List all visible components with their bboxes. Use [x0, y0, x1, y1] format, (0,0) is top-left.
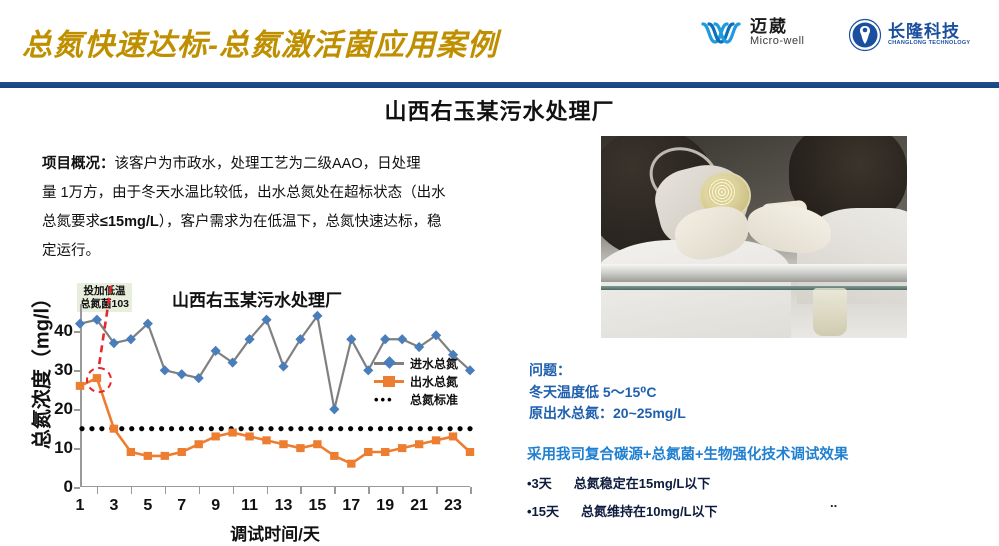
project-overview: 项目概况：该客户为市政水，处理工艺为二级AAO，日处理 量 1万方，由于冬天水温…: [42, 150, 542, 266]
chart-x-axis-label: 调试时间/天: [80, 520, 470, 545]
dosing-arrow-line: [99, 286, 111, 366]
chart-x-tick-label: 23: [444, 497, 462, 515]
chart-x-tick-mark: [470, 487, 472, 494]
solution-bullet-1-text: 总氮稳定在15mg/L以下: [574, 476, 711, 491]
page-title: 山西右玉某污水处理厂: [0, 94, 999, 126]
chart-x-tick-mark: [131, 487, 133, 494]
chart-y-axis-label: 总氮浓度（mg/l）: [26, 279, 55, 459]
chart-x-tick-label: 15: [308, 497, 326, 515]
solution-bullet-2-text: 总氮维持在10mg/L以下: [581, 504, 718, 519]
overview-line3-post: ），客户需求为在低温下，总氮快速达标，稳: [159, 214, 442, 230]
photo-cabinet-frame: [601, 264, 907, 282]
problem-line-effluent-tn: 原出水总氮：20~25mg/L: [529, 403, 686, 425]
chart-x-tick-label: 5: [143, 497, 152, 515]
legend-item-effluent: 出水总氮: [374, 372, 458, 390]
photo-glass-edge: [601, 286, 907, 290]
solution-trailing-dots: ..: [830, 495, 837, 510]
chart-x-tick-mark: [368, 487, 370, 494]
chart-x-tick-mark: [402, 487, 404, 494]
chart-x-tick-mark: [300, 487, 302, 494]
changlong-seal-icon: [848, 18, 882, 52]
chart-x-tick-mark: [97, 487, 99, 494]
problem-heading: 问题：: [529, 360, 686, 382]
overview-line1: 该客户为市政水，处理工艺为二级AAO，日处理: [115, 156, 421, 172]
lab-photo: [601, 136, 907, 338]
legend-item-influent: 进水总氮: [374, 354, 458, 372]
legend-marker-influent-icon: [374, 362, 404, 365]
legend-item-standard: ••• 总氮标准: [374, 390, 458, 408]
chart-x-tick-mark: [199, 487, 201, 494]
chart-x-tick-mark: [334, 487, 336, 494]
logo-changlong-cn: 长隆科技: [888, 23, 970, 41]
chart-x-tick-label: 21: [410, 497, 428, 515]
overview-label: 项目概况：: [42, 156, 115, 172]
slide-title: 总氮快速达标-总氮激活菌应用案例: [22, 20, 498, 64]
overview-spec-value: ≤15mg/L: [100, 214, 159, 230]
chart-x-tick-label: 3: [109, 497, 118, 515]
logo-micro-well-cn: 迈葳: [750, 18, 805, 36]
legend-label-influent: 进水总氮: [410, 355, 458, 372]
solution-heading: 采用我司复合碳源+总氮菌+生物强化技术调试效果: [527, 443, 987, 464]
logo-changlong: 长隆科技 CHANGLONG TECHNOLOGY: [848, 18, 970, 52]
overview-line3-pre: 总氮要求: [42, 214, 100, 230]
chart-x-tick-label: 17: [342, 497, 360, 515]
chart-y-tick-label: 40: [54, 321, 73, 341]
legend-marker-standard-icon: •••: [374, 393, 404, 406]
logo-micro-well: 迈葳 Micro-well: [700, 18, 805, 48]
chart-x-tick-label: 9: [211, 497, 220, 515]
logo-changlong-en: CHANGLONG TECHNOLOGY: [888, 41, 970, 47]
slide-header: 总氮快速达标-总氮激活菌应用案例 迈葳 Micro-well 长隆科技 CHAN…: [0, 0, 999, 88]
chart-x-tick-label: 19: [376, 497, 394, 515]
problem-block: 问题： 冬天温度低 5～15⁰C 原出水总氮：20~25mg/L: [529, 360, 686, 425]
photo-beaker: [813, 288, 847, 336]
chart-x-tick-mark: [165, 487, 167, 494]
chart-y-tick-label: 0: [64, 477, 73, 497]
legend-label-standard: 总氮标准: [410, 391, 458, 408]
micro-well-mark-icon: [700, 18, 744, 48]
logo-micro-well-en: Micro-well: [750, 36, 805, 48]
solution-bullet-1-day: •3天: [527, 476, 552, 491]
solution-bullet-2-day: •15天: [527, 504, 559, 519]
chart-y-tick-mark: [74, 487, 80, 489]
chart-x-tick-label: 11: [241, 497, 258, 515]
solution-block: 采用我司复合碳源+总氮菌+生物强化技术调试效果 •3天总氮稳定在15mg/L以下…: [527, 443, 987, 520]
legend-label-effluent: 出水总氮: [410, 373, 458, 390]
chart-x-tick-mark: [233, 487, 235, 494]
chart-legend: 进水总氮 出水总氮 ••• 总氮标准: [374, 354, 458, 408]
chart-x-tick-mark: [267, 487, 269, 494]
legend-marker-effluent-icon: [374, 380, 404, 383]
header-divider-bar: [0, 82, 999, 88]
overview-line4: 定运行。: [42, 243, 100, 259]
solution-bullet-1: •3天总氮稳定在15mg/L以下: [527, 473, 987, 492]
chart-y-tick-label: 30: [54, 360, 73, 380]
chart-y-tick-label: 10: [54, 438, 73, 458]
tn-concentration-chart: 总氮浓度（mg/l） 山西右玉某污水处理厂 投加低温 总氮菌103 010203…: [22, 282, 492, 544]
chart-x-tick-mark: [436, 487, 438, 494]
problem-line-temperature: 冬天温度低 5～15⁰C: [529, 382, 686, 404]
solution-bullet-2: •15天总氮维持在10mg/L以下: [527, 501, 987, 520]
chart-y-tick-label: 20: [54, 399, 73, 419]
chart-x-tick-label: 1: [76, 497, 85, 515]
overview-line2: 量 1万方，由于冬天水温比较低，出水总氮处在超标状态（出水: [42, 185, 446, 201]
chart-x-tick-label: 13: [275, 497, 293, 515]
chart-x-tick-label: 7: [177, 497, 186, 515]
